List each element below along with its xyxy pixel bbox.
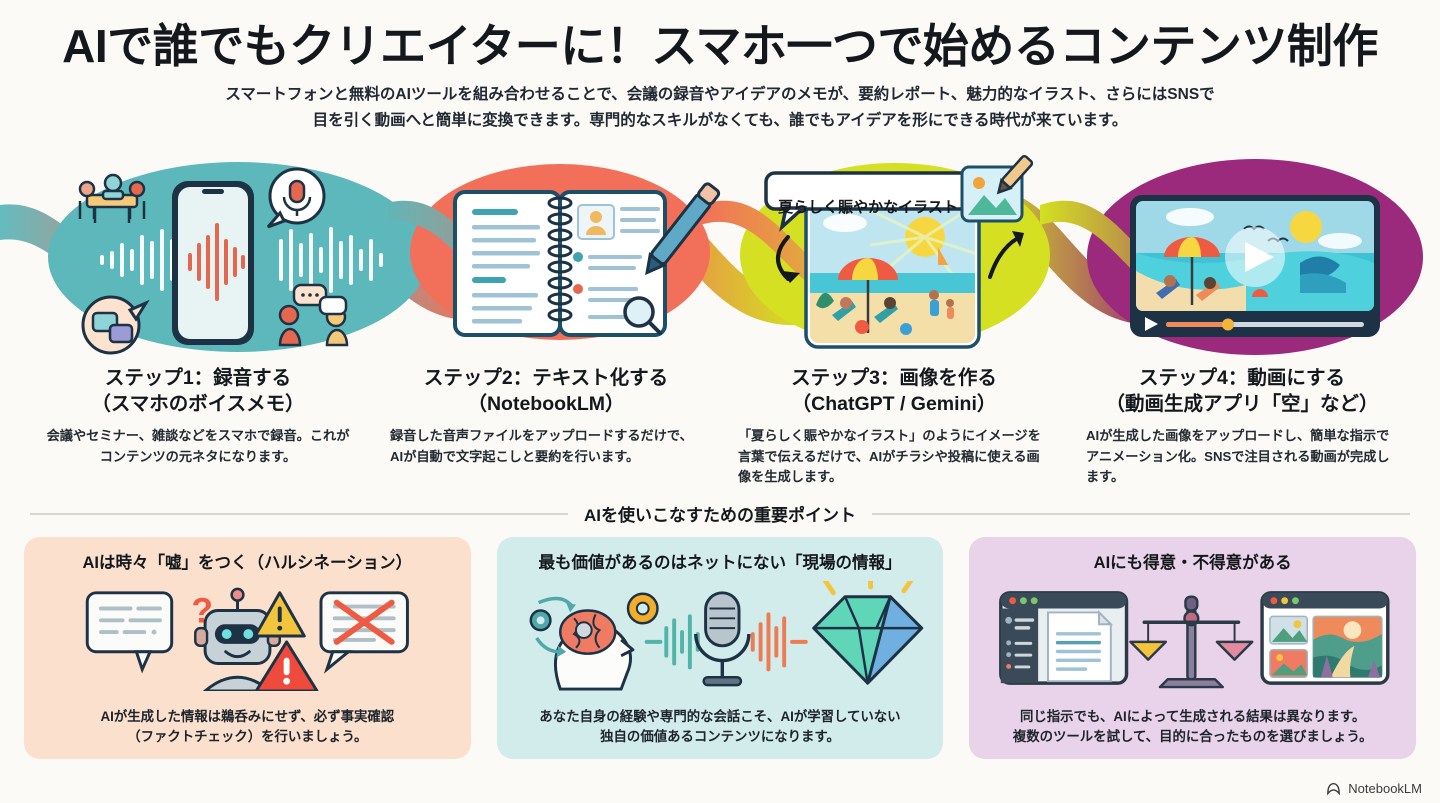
balance-scale-icon (1131, 597, 1253, 687)
card-2-desc-line-1: あなた自身の経験や専門的な会話こそ、AIが学習していない (507, 707, 934, 727)
talking-people-icon (280, 285, 347, 345)
step-2-description: 録音した音声ファイルをアップロードするだけで、AIが自動で文字起こしと要約を行い… (386, 426, 706, 467)
waveform-orange-icon (752, 615, 805, 670)
card-2-desc-line-2: 独自の価値あるコンテンツになります。 (507, 727, 934, 747)
microphone-icon (695, 593, 748, 685)
step-3: ステップ3：画像を作る （ChatGPT / Gemini） 「夏らしく賑やかな… (720, 366, 1068, 487)
step3-illustration (766, 155, 1033, 347)
card-3-description: 同じ指示でも、AIによって生成される結果は異なります。 複数のツールを試して、目… (969, 707, 1416, 747)
step-3-subtitle: （ChatGPT / Gemini） (734, 392, 1054, 417)
point-card-strengths: AIにも得意・不得意がある (969, 537, 1416, 759)
step-1-title: ステップ1：録音する (38, 366, 358, 391)
image-edit-icon (962, 155, 1033, 221)
gallery-app-window-icon (1262, 593, 1388, 683)
point-cards: AIは時々「嘘」をつく（ハルシネーション） (24, 537, 1416, 759)
step-2-title: ステップ2：テキスト化する (386, 366, 706, 391)
section-title: AIを使いこなすための重要ポイント (584, 501, 856, 526)
step-1: ステップ1：録音する （スマホのボイスメモ） 会議やセミナー、雑談などをスマホで… (24, 366, 372, 487)
infographic-page: AIで誰でもクリエイターに！スマホ一つで始めるコンテンツ制作 スマートフォンと無… (0, 0, 1440, 803)
subtitle-line-1: スマートフォンと無料のAIツールを組み合わせることで、会議の録音やアイデアのメモ… (120, 82, 1320, 108)
footer-brand: NotebookLM (1325, 780, 1422, 797)
page-subtitle: スマートフォンと無料のAIツールを組み合わせることで、会議の録音やアイデアのメモ… (120, 82, 1320, 133)
rejected-text-bubble-icon (321, 593, 407, 670)
step4-illustration (1130, 195, 1380, 337)
page-header: AIで誰でもクリエイターに！スマホ一つで始めるコンテンツ制作 スマートフォンと無… (0, 0, 1440, 133)
card-3-desc-line-1: 同じ指示でも、AIによって生成される結果は異なります。 (979, 707, 1406, 727)
divider-line-right (872, 513, 1410, 515)
card-1-desc-line-1: AIが生成した情報は鵜呑みにせず、必ず事実確認 (34, 707, 461, 727)
step-1-subtitle: （スマホのボイスメモ） (38, 392, 358, 417)
step-1-description: 会議やセミナー、雑談などをスマホで録音。これがコンテンツの元ネタになります。 (38, 426, 358, 467)
step-3-title: ステップ3：画像を作る (734, 366, 1054, 391)
point-card-hallucination: AIは時々「嘘」をつく（ハルシネーション） (24, 537, 471, 759)
step-captions: ステップ1：録音する （スマホのボイスメモ） 会議やセミナー、雑談などをスマホで… (0, 366, 1440, 487)
footer-brand-label: NotebookLM (1348, 781, 1422, 796)
card-1-title: AIは時々「嘘」をつく（ハルシネーション） (24, 537, 471, 581)
card-1-description: AIが生成した情報は鵜呑みにせず、必ず事実確認 （ファクトチェック）を行いましょ… (24, 707, 471, 747)
text-bubble-icon (87, 593, 171, 670)
point-card-field-info: 最も価値があるのはネットにない「現場の情報」 (497, 537, 944, 759)
step-2: ステップ2：テキスト化する （NotebookLM） 録音した音声ファイルをアッ… (372, 366, 720, 487)
card-3-desc-line-2: 複数のツールを試して、目的に合ったものを選びましょう。 (979, 727, 1406, 747)
card-3-illustration (969, 581, 1416, 691)
waveform-teal-icon (646, 617, 697, 668)
chat-bubbles-icon (83, 297, 146, 353)
flow-illustrations (0, 145, 1440, 360)
card-2-title: 最も価値があるのはネットにない「現場の情報」 (497, 537, 944, 581)
card-1-illustration: ? (24, 581, 471, 691)
step-3-description: 「夏らしく賑やかなイラスト」のようにイメージを言葉で伝えるだけで、AIがチラシや… (734, 426, 1054, 487)
notebooklm-logo-icon (1325, 780, 1342, 797)
step-4-description: AIが生成した画像をアップロードし、簡単な指示でアニメーション化。SNSで注目さ… (1082, 426, 1402, 487)
sparkle-icon (825, 581, 911, 593)
document-app-window-icon (1001, 593, 1127, 683)
section-divider: AIを使いこなすための重要ポイント (30, 501, 1410, 526)
card-2-description: あなた自身の経験や専門的な会話こそ、AIが学習していない 独自の価値あるコンテン… (497, 707, 944, 747)
divider-line-left (30, 513, 568, 515)
step-4: ステップ4：動画にする （動画生成アプリ「空」など） AIが生成した画像をアップ… (1068, 366, 1416, 487)
step-4-subtitle: （動画生成アプリ「空」など） (1082, 392, 1402, 417)
play-button-icon (1225, 227, 1285, 287)
card-3-title: AIにも得意・不得意がある (969, 537, 1416, 581)
page-title: AIで誰でもクリエイターに！スマホ一つで始めるコンテンツ制作 (0, 22, 1440, 70)
microphone-icon (268, 169, 324, 227)
brain-head-icon (555, 611, 632, 690)
diamond-icon (813, 581, 921, 683)
step-4-title: ステップ4：動画にする (1082, 366, 1402, 391)
flow-band (0, 145, 1440, 360)
card-1-desc-line-2: （ファクトチェック）を行いましょう。 (34, 727, 461, 747)
step1-illustration (80, 169, 381, 353)
step2-illustration (455, 183, 720, 336)
card-2-illustration (497, 581, 944, 691)
subtitle-line-2: 目を引く動画へと簡単に変換できます。専門的なスキルがなくても、誰でもアイデアを形… (120, 108, 1320, 134)
meeting-people-icon (80, 175, 144, 223)
step-2-subtitle: （NotebookLM） (386, 392, 706, 417)
